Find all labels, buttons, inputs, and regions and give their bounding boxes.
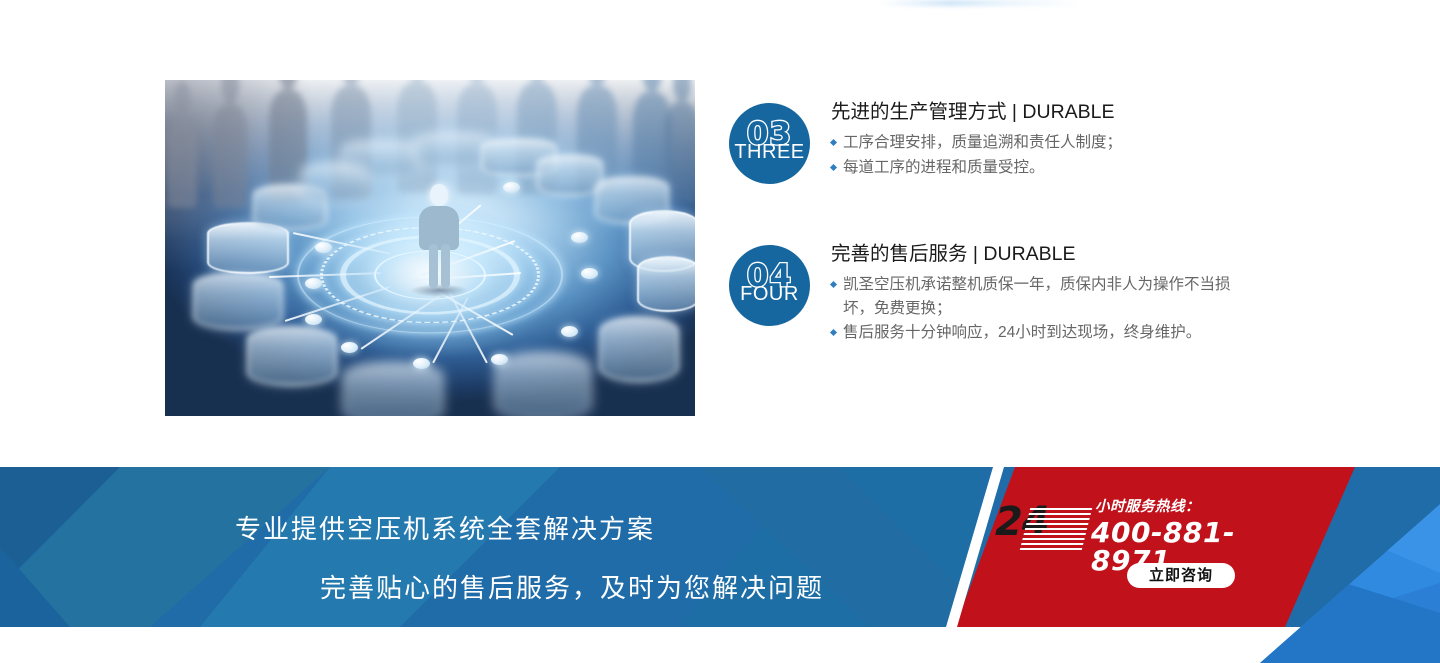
- list-item-text: 每道工序的进程和质量受控。: [843, 159, 1045, 176]
- hotline-block: 24 小时服务热线： 400-881-8971 立即咨询: [995, 498, 1315, 608]
- network-node: [341, 342, 358, 353]
- list-item: 凯圣空压机承诺整机质保一年，质保内非人为操作不当损坏，免费更换；: [831, 273, 1241, 321]
- top-edge-remnant: [880, 0, 1080, 6]
- node-cylinder: [207, 222, 289, 274]
- network-node: [581, 268, 598, 279]
- figure-shadow: [410, 284, 468, 297]
- hero-illustration: [165, 80, 695, 416]
- silhouette-person: [213, 104, 247, 208]
- hotline-label: 小时服务热线：: [1095, 500, 1200, 515]
- feature-body: 先进的生产管理方式 | DURABLE 工序合理安排，质量追溯和责任人制度； 每…: [831, 100, 1289, 180]
- diamond-bullet-icon: [830, 164, 837, 171]
- feature-bullets: 工序合理安排，质量追溯和责任人制度； 每道工序的进程和质量受控。: [831, 131, 1289, 179]
- badge-04: 04 FOUR: [729, 245, 810, 326]
- feature-title: 先进的生产管理方式 | DURABLE: [831, 100, 1289, 124]
- figure-leg-left: [429, 244, 438, 288]
- network-node: [491, 354, 508, 365]
- badge-word: THREE: [729, 142, 810, 162]
- network-node: [503, 182, 520, 193]
- central-person-figure: [418, 184, 460, 288]
- diamond-bullet-icon: [830, 329, 837, 336]
- feature-body: 完善的售后服务 | DURABLE 凯圣空压机承诺整机质保一年，质保内非人为操作…: [831, 242, 1241, 346]
- silhouette-person: [167, 116, 197, 208]
- network-node: [305, 278, 322, 289]
- diamond-bullet-icon: [830, 139, 837, 146]
- badge-word: FOUR: [729, 284, 810, 304]
- feature-bullets: 凯圣空压机承诺整机质保一年，质保内非人为操作不当损坏，免费更换； 售后服务十分钟…: [831, 273, 1241, 346]
- list-item-text: 售后服务十分钟响应，24小时到达现场，终身维护。: [843, 324, 1201, 341]
- node-cylinder: [343, 362, 443, 416]
- figure-leg-right: [441, 244, 450, 288]
- network-node: [571, 232, 588, 243]
- feature-block-03: 03 THREE 先进的生产管理方式 | DURABLE 工序合理安排，质量追溯…: [729, 100, 1289, 180]
- hotline-hours: 24: [995, 502, 1049, 542]
- banner-slogan-line-1: 专业提供空压机系统全套解决方案: [235, 516, 655, 542]
- consult-now-button[interactable]: 立即咨询: [1127, 563, 1235, 588]
- node-cylinder: [495, 352, 591, 416]
- node-cylinder: [537, 154, 603, 196]
- badge-03: 03 THREE: [729, 103, 810, 184]
- list-item-text: 凯圣空压机承诺整机质保一年，质保内非人为操作不当损坏，免费更换；: [843, 276, 1231, 317]
- feature-title: 完善的售后服务 | DURABLE: [831, 242, 1241, 266]
- list-item: 售后服务十分钟响应，24小时到达现场，终身维护。: [831, 321, 1241, 345]
- node-cylinder: [193, 272, 283, 330]
- network-node: [413, 358, 430, 369]
- network-node: [561, 326, 578, 337]
- list-item: 工序合理安排，质量追溯和责任人制度；: [831, 131, 1289, 155]
- banner-slogan: 专业提供空压机系统全套解决方案 完善贴心的售后服务，及时为您解决问题: [0, 467, 940, 627]
- node-cylinder: [599, 316, 679, 382]
- banner-slogan-line-2: 完善贴心的售后服务，及时为您解决问题: [320, 575, 824, 601]
- silhouette-person: [665, 102, 695, 202]
- figure-head: [430, 184, 448, 206]
- feature-block-04: 04 FOUR 完善的售后服务 | DURABLE 凯圣空压机承诺整机质保一年，…: [729, 242, 1289, 346]
- hotline-hours-text: 24: [995, 499, 1049, 545]
- page-root: 03 THREE 先进的生产管理方式 | DURABLE 工序合理安排，质量追溯…: [0, 0, 1440, 663]
- figure-body: [419, 206, 459, 250]
- list-item-text: 工序合理安排，质量追溯和责任人制度；: [843, 134, 1122, 151]
- network-node: [305, 314, 322, 325]
- diamond-bullet-icon: [830, 281, 837, 288]
- list-item: 每道工序的进程和质量受控。: [831, 156, 1289, 180]
- node-cylinder: [637, 256, 695, 312]
- network-node: [315, 242, 332, 253]
- feature-list: 03 THREE 先进的生产管理方式 | DURABLE 工序合理安排，质量追溯…: [729, 100, 1289, 381]
